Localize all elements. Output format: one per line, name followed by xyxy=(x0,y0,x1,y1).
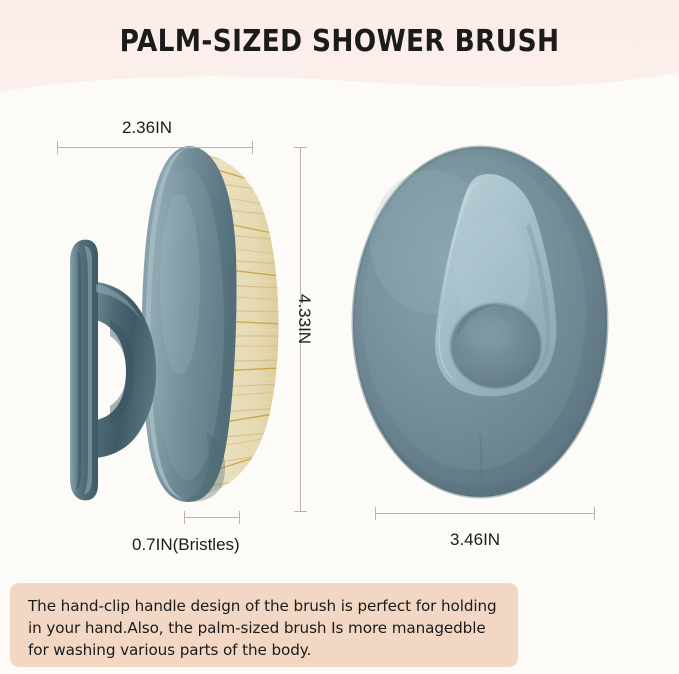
brush-back-view xyxy=(340,134,620,509)
caption-text: The hand-clip handle design of the brush… xyxy=(28,595,502,661)
dimension-line-width xyxy=(57,147,253,148)
brush-back-view-image xyxy=(340,134,620,509)
dimension-label-height: 4.33IN xyxy=(294,294,314,344)
dimension-line-bristles xyxy=(184,517,240,518)
brush-side-view xyxy=(30,134,290,509)
dimension-label-diameter: 3.46IN xyxy=(450,530,500,550)
caption-box: The hand-clip handle design of the brush… xyxy=(10,583,518,667)
page-title: PALM-SIZED SHOWER BRUSH xyxy=(41,24,639,59)
brush-body xyxy=(142,146,237,502)
dimension-label-width: 2.36IN xyxy=(122,118,172,138)
dimension-line-diameter xyxy=(375,513,595,514)
product-infographic: PALM-SIZED SHOWER BRUSH xyxy=(0,0,679,674)
brush-side-view-image xyxy=(30,134,290,509)
product-stage: 2.36IN 4.33IN 0.7IN(Bristles) 3.46IN xyxy=(0,104,679,574)
dimension-label-bristles: 0.7IN(Bristles) xyxy=(132,535,240,555)
hand-clip-handle xyxy=(70,240,156,501)
